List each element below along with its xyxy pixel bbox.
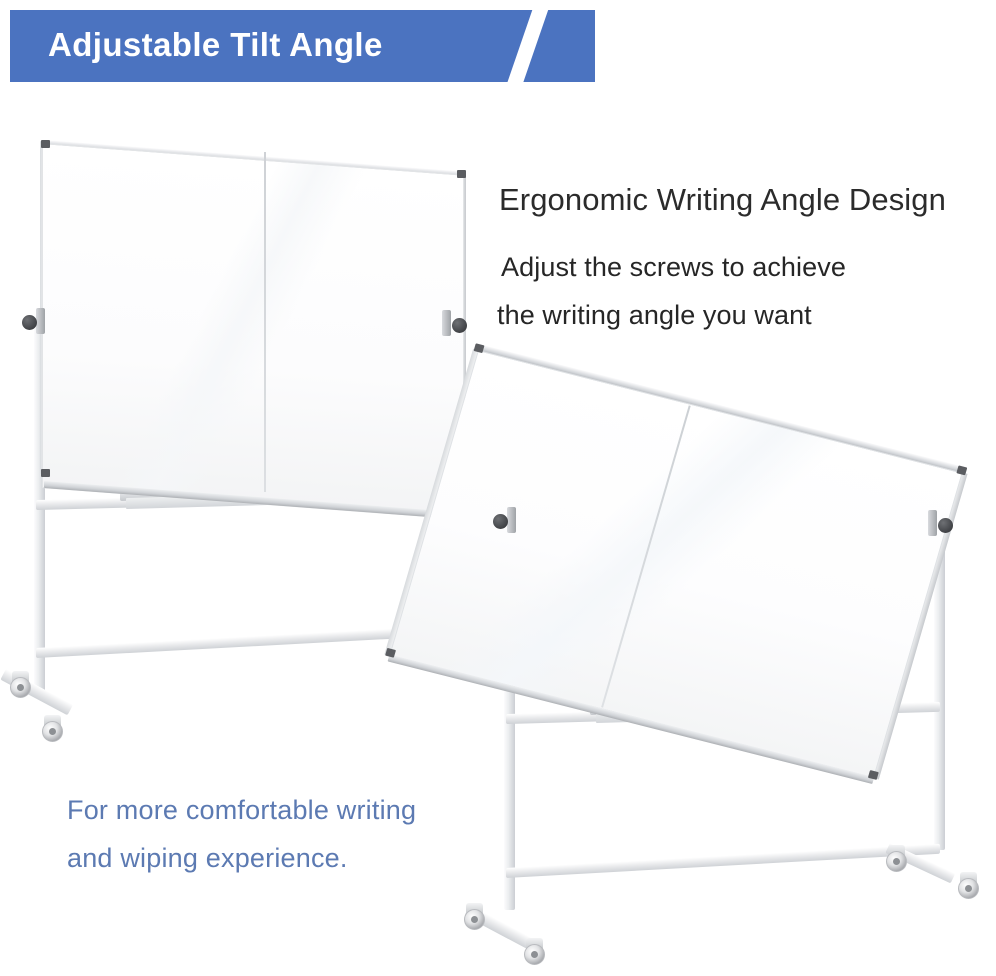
feature-headline: Ergonomic Writing Angle Design bbox=[499, 182, 946, 218]
product-right-tilted-whiteboard bbox=[0, 0, 996, 976]
feature-line-2: the writing angle you want bbox=[497, 300, 812, 331]
right-caster-front-inner bbox=[522, 938, 548, 966]
right-pivot-plate-left bbox=[507, 507, 516, 533]
right-caster-rear-outer bbox=[884, 845, 910, 873]
right-caster-rear-inner bbox=[956, 872, 982, 900]
caption-line-2: and wiping experience. bbox=[67, 843, 348, 874]
right-pivot-knob-right[interactable] bbox=[938, 518, 953, 533]
right-board-writing-surface bbox=[389, 350, 962, 778]
right-pivot-knob-left[interactable] bbox=[493, 514, 508, 529]
feature-line-1: Adjust the screws to achieve bbox=[501, 252, 846, 283]
right-caster-front-outer bbox=[462, 903, 488, 931]
caption-line-1: For more comfortable writing bbox=[67, 795, 416, 826]
right-stand-crossbar-lower bbox=[506, 844, 940, 878]
right-board-assembly bbox=[386, 350, 963, 790]
product-feature-image: Adjustable Tilt Angle bbox=[0, 0, 996, 976]
right-pivot-plate-right bbox=[928, 510, 937, 536]
